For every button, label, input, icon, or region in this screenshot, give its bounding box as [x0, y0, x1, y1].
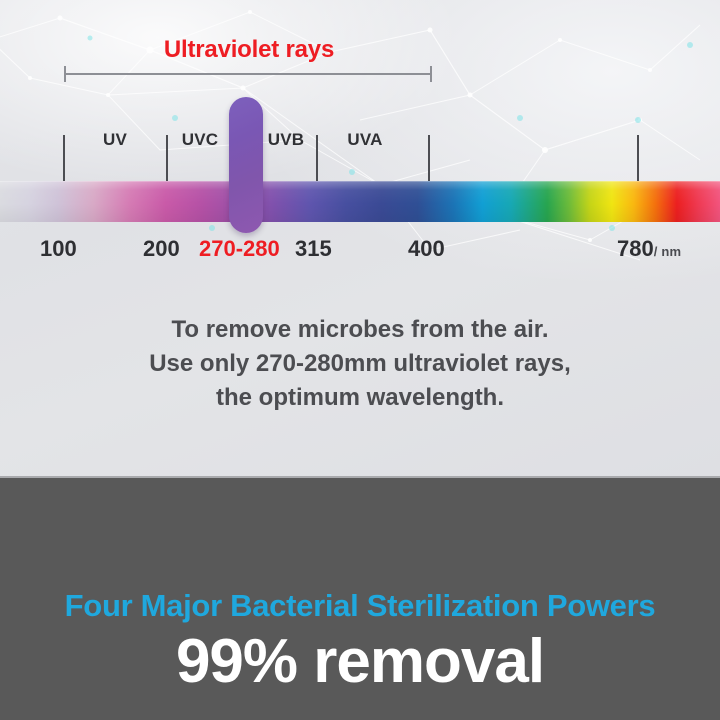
axis-label-270-280: 270-280 [199, 238, 280, 260]
band-label-uv: UV [90, 131, 140, 148]
wavelength-marker-270-280[interactable] [229, 97, 263, 233]
bracket-bar [64, 73, 432, 75]
spectrum-panel: Ultraviolet rays UV UVC UVB UVA 100 200 … [0, 0, 720, 476]
axis-label-100: 100 [40, 238, 77, 260]
axis-unit-nm: / nm [654, 244, 682, 259]
bracket-cap-left [64, 66, 66, 82]
description-line-1: To remove microbes from the air. [0, 313, 720, 347]
axis-label-780-value: 780 [617, 236, 654, 261]
band-label-uvc: UVC [172, 131, 228, 148]
description-line-3: the optimum wavelength. [0, 381, 720, 415]
sterilization-banner: Four Major Bacterial Sterilization Power… [0, 476, 720, 720]
banner-headline: Four Major Bacterial Sterilization Power… [0, 590, 720, 621]
spectrum-gloss-overlay [0, 181, 720, 222]
axis-label-315: 315 [295, 238, 332, 260]
spectrum-color-bar [0, 181, 720, 222]
bracket-cap-right [430, 66, 432, 82]
panel-divider [0, 476, 720, 478]
band-label-uvb: UVB [258, 131, 314, 148]
description-block: To remove microbes from the air. Use onl… [0, 313, 720, 415]
axis-label-200: 200 [143, 238, 180, 260]
banner-subline: 99% removal [0, 631, 720, 693]
axis-label-400: 400 [408, 238, 445, 260]
description-line-2: Use only 270-280mm ultraviolet rays, [0, 347, 720, 381]
ultraviolet-rays-title: Ultraviolet rays [0, 38, 498, 62]
band-label-uva: UVA [337, 131, 393, 148]
axis-label-780: 780/ nm [617, 238, 681, 260]
uv-spectrum-infographic: Ultraviolet rays UV UVC UVB UVA 100 200 … [0, 0, 720, 720]
uv-range-bracket [64, 66, 432, 82]
